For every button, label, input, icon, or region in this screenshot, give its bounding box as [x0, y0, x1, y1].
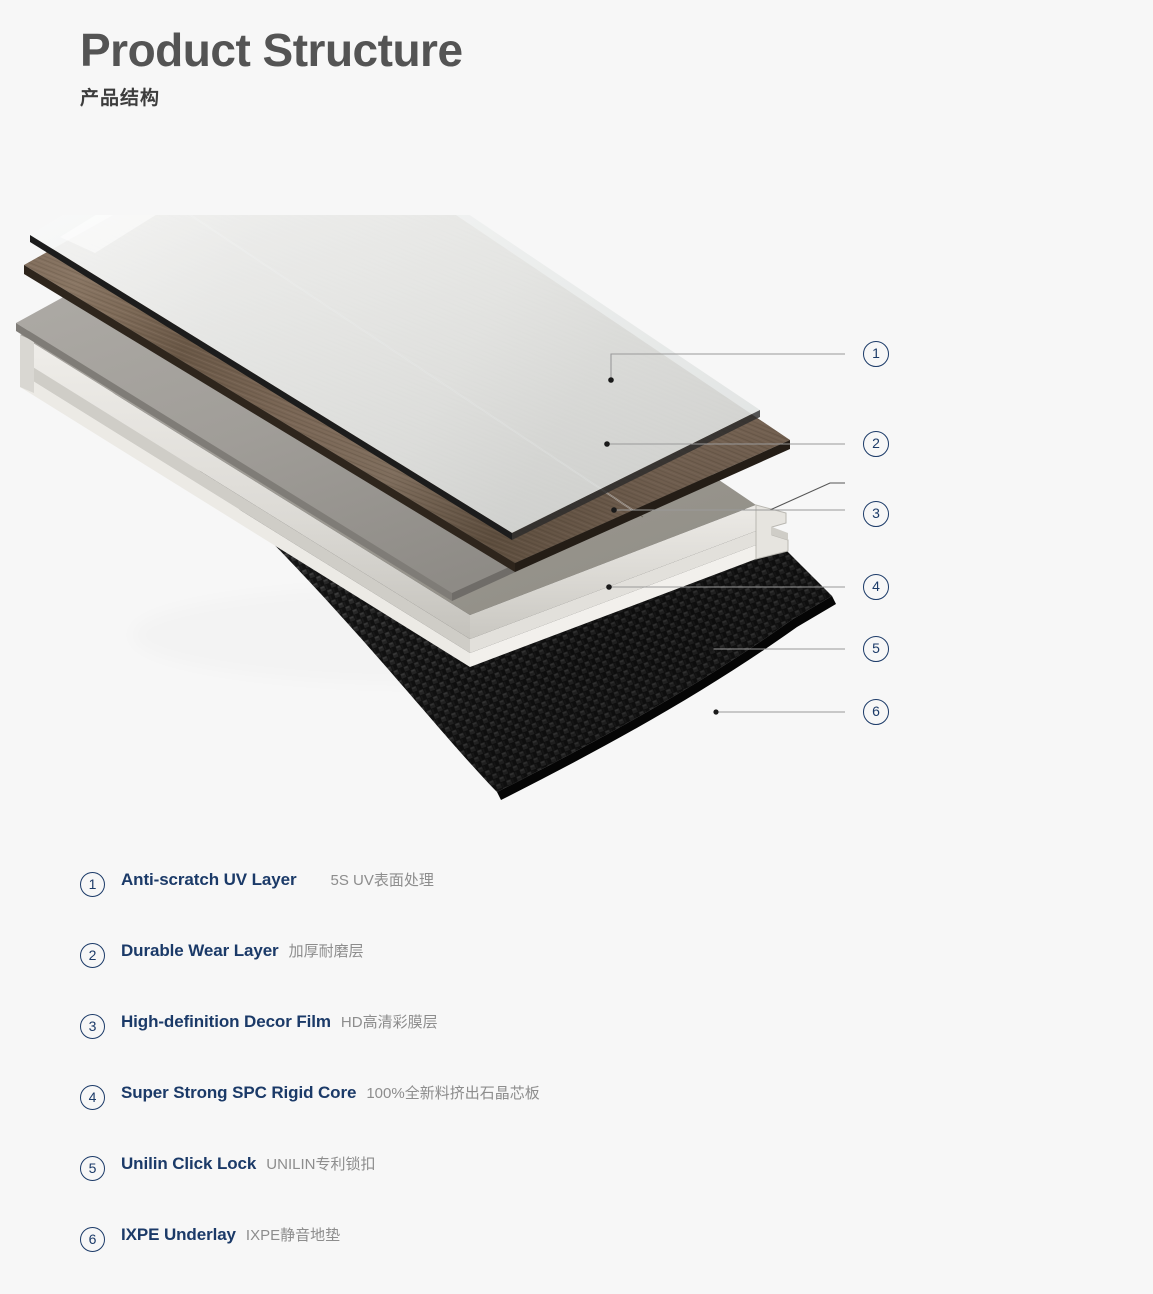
exploded-floor-layer-diagram: 1 2 3 4 5 6	[0, 215, 1153, 835]
leader-dot-6	[713, 709, 718, 714]
list-item[interactable]: 2 Durable Wear Layer 加厚耐磨层	[80, 939, 780, 1010]
legend-label-en-6: IXPE Underlay	[121, 1225, 236, 1245]
callout-4[interactable]: 4	[863, 574, 889, 600]
leader-dot-3	[611, 507, 617, 513]
legend-label-en-1: Anti-scratch UV Layer	[121, 870, 297, 890]
list-item[interactable]: 1 Anti-scratch UV Layer 5S UV表面处理	[80, 868, 780, 939]
legend-label-cn-6: IXPE静音地垫	[246, 1224, 340, 1245]
legend-number-2: 2	[80, 943, 105, 968]
legend-number-1: 1	[80, 872, 105, 897]
legend-label-en-3: High-definition Decor Film	[121, 1012, 331, 1032]
legend-label-en-5: Unilin Click Lock	[121, 1154, 256, 1174]
legend-label-cn-5: UNILIN专利锁扣	[266, 1153, 375, 1174]
page-header: Product Structure 产品结构	[80, 24, 463, 110]
legend-number-4: 4	[80, 1085, 105, 1110]
legend-label-en-4: Super Strong SPC Rigid Core	[121, 1083, 356, 1103]
click-lock-profile	[756, 505, 788, 559]
leader-dot-4	[606, 584, 612, 590]
leader-dot-2	[604, 441, 610, 447]
legend-number-3: 3	[80, 1014, 105, 1039]
legend-label-cn-1: 5S UV表面处理	[331, 869, 434, 890]
legend-label-cn-4: 100%全新料挤出石晶芯板	[366, 1082, 539, 1103]
list-item[interactable]: 3 High-definition Decor Film HD高清彩膜层	[80, 1010, 780, 1081]
leader-dot-1	[608, 377, 614, 383]
legend-number-6: 6	[80, 1227, 105, 1252]
list-item[interactable]: 5 Unilin Click Lock UNILIN专利锁扣	[80, 1152, 780, 1223]
legend-label-en-2: Durable Wear Layer	[121, 941, 279, 961]
list-item[interactable]: 6 IXPE Underlay IXPE静音地垫	[80, 1223, 780, 1294]
legend-label-cn-3: HD高清彩膜层	[341, 1011, 438, 1032]
callout-3[interactable]: 3	[863, 501, 889, 527]
layer-legend-list: 1 Anti-scratch UV Layer 5S UV表面处理 2 Dura…	[80, 868, 780, 1294]
callout-5[interactable]: 5	[863, 636, 889, 662]
list-item[interactable]: 4 Super Strong SPC Rigid Core 100%全新料挤出石…	[80, 1081, 780, 1152]
leader-dot-5	[708, 646, 713, 651]
callout-1[interactable]: 1	[863, 341, 889, 367]
page-title: Product Structure	[80, 24, 463, 77]
legend-label-cn-2: 加厚耐磨层	[289, 940, 364, 961]
legend-number-5: 5	[80, 1156, 105, 1181]
callout-6[interactable]: 6	[863, 699, 889, 725]
callout-2[interactable]: 2	[863, 431, 889, 457]
page-subtitle-chinese: 产品结构	[80, 83, 463, 110]
